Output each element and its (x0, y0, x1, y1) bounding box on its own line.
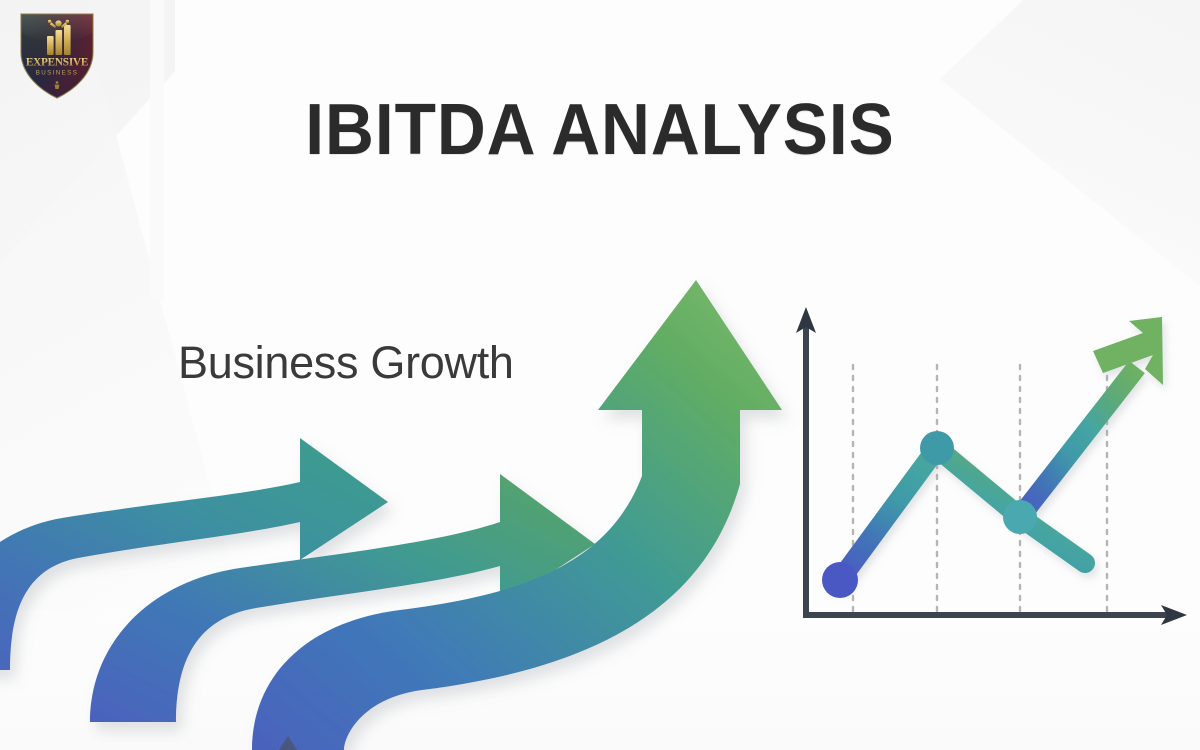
marker-start-point[interactable] (822, 562, 858, 598)
growth-arrows-illustration (0, 270, 790, 750)
logo-name-secondary: BUSINESS (36, 70, 79, 77)
chart-markers (822, 431, 1037, 598)
marker-peak-point[interactable] (920, 431, 954, 465)
chart-series-growth (840, 317, 1163, 580)
poster-canvas: EXPENSIVE BUSINESS IBITDA ANALYSIS Busin… (0, 0, 1200, 750)
brand-logo[interactable]: EXPENSIVE BUSINESS (14, 8, 100, 102)
page-title: IBITDA ANALYSIS (36, 94, 1164, 166)
shield-bar-chart-logo-icon: EXPENSIVE BUSINESS (14, 8, 100, 102)
bottom-edge-arrow-tip (276, 735, 300, 750)
chart-line-rise (1020, 367, 1137, 517)
line-chart-svg (785, 295, 1195, 635)
marker-dip-point[interactable] (1003, 500, 1037, 534)
small-arrow-tip-icon (276, 735, 300, 750)
line-chart (785, 295, 1195, 635)
logo-name-primary: EXPENSIVE (26, 57, 88, 69)
three-curved-growth-arrows-icon (0, 270, 790, 750)
